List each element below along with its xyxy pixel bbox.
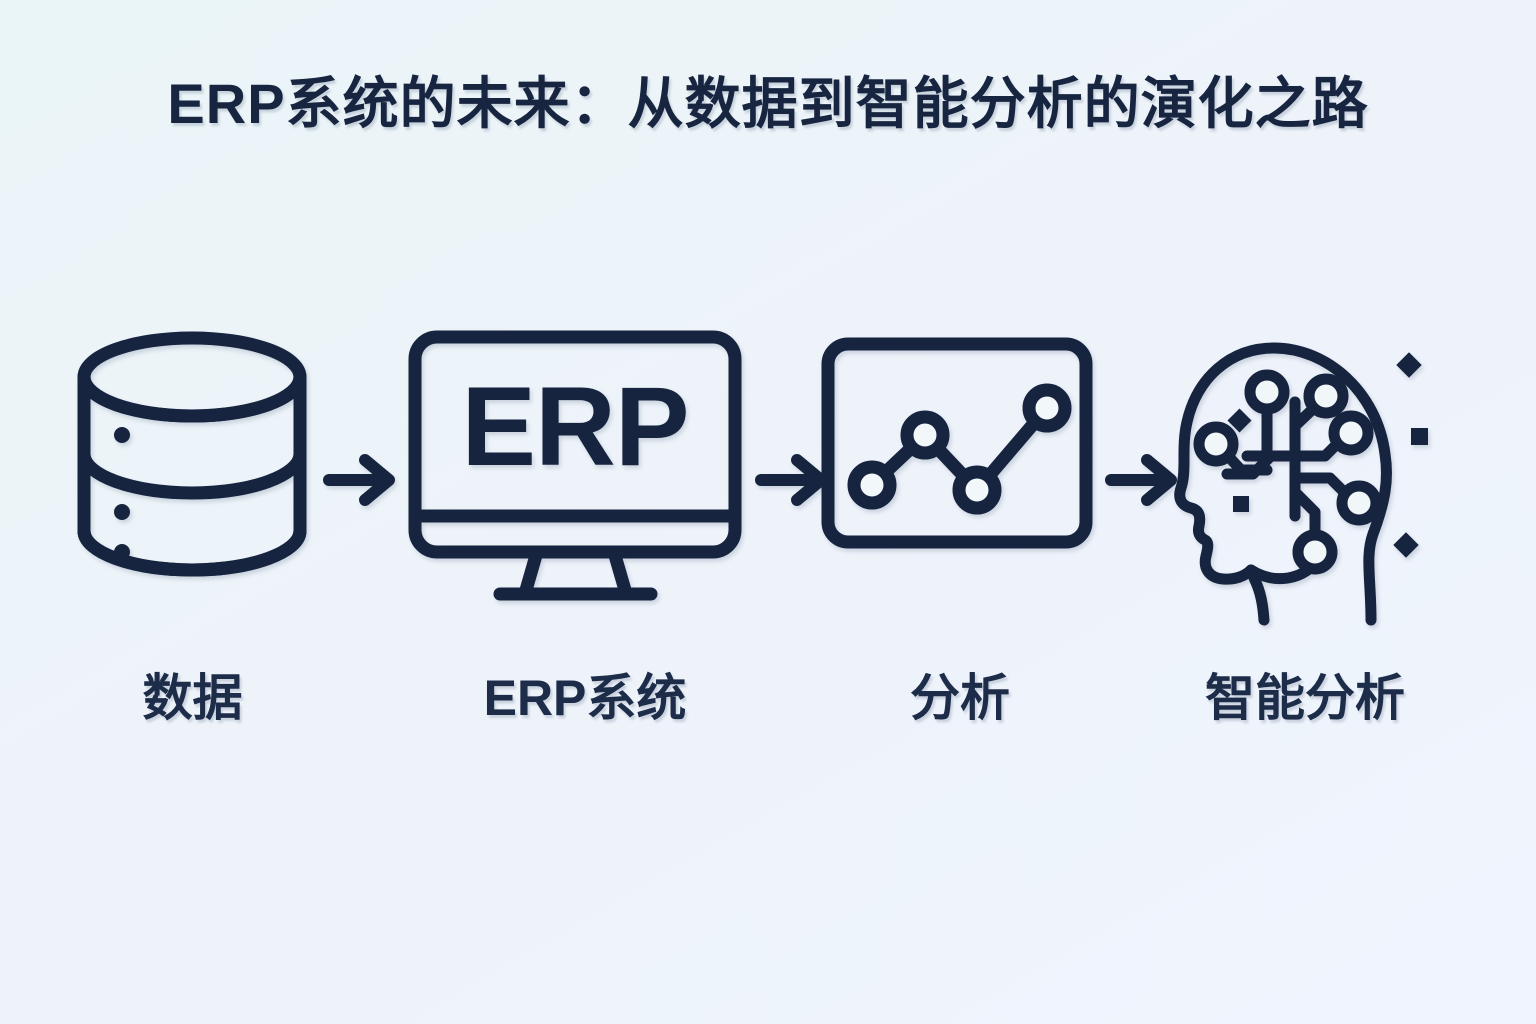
page-title: ERP系统的未来：从数据到智能分析的演化之路 [0, 72, 1536, 136]
arrow-right-icon [323, 448, 401, 512]
arrow-right-icon [1105, 448, 1183, 512]
stage-ai [1175, 330, 1425, 630]
database-cylinder-icon [75, 330, 310, 600]
flow-diagram: ERP [0, 330, 1536, 630]
stage-erp: ERP [408, 330, 743, 630]
stage-labels: 数据 ERP系统 分析 智能分析 [0, 668, 1536, 758]
stage-label-erp: ERP系统 [410, 668, 760, 728]
stage-label-data: 数据 [60, 668, 325, 728]
stage-analysis [820, 330, 1095, 630]
erp-evolution-infographic: ERP系统的未来：从数据到智能分析的演化之路 [0, 0, 1536, 1024]
stage-data [75, 330, 310, 630]
stage-label-analysis: 分析 [820, 668, 1100, 728]
ai-brain-head-icon [1175, 330, 1425, 625]
desktop-monitor-icon: ERP [408, 330, 743, 620]
erp-screen-text: ERP [461, 364, 688, 489]
stage-label-ai: 智能分析 [1160, 668, 1450, 728]
line-chart-icon [820, 330, 1095, 555]
